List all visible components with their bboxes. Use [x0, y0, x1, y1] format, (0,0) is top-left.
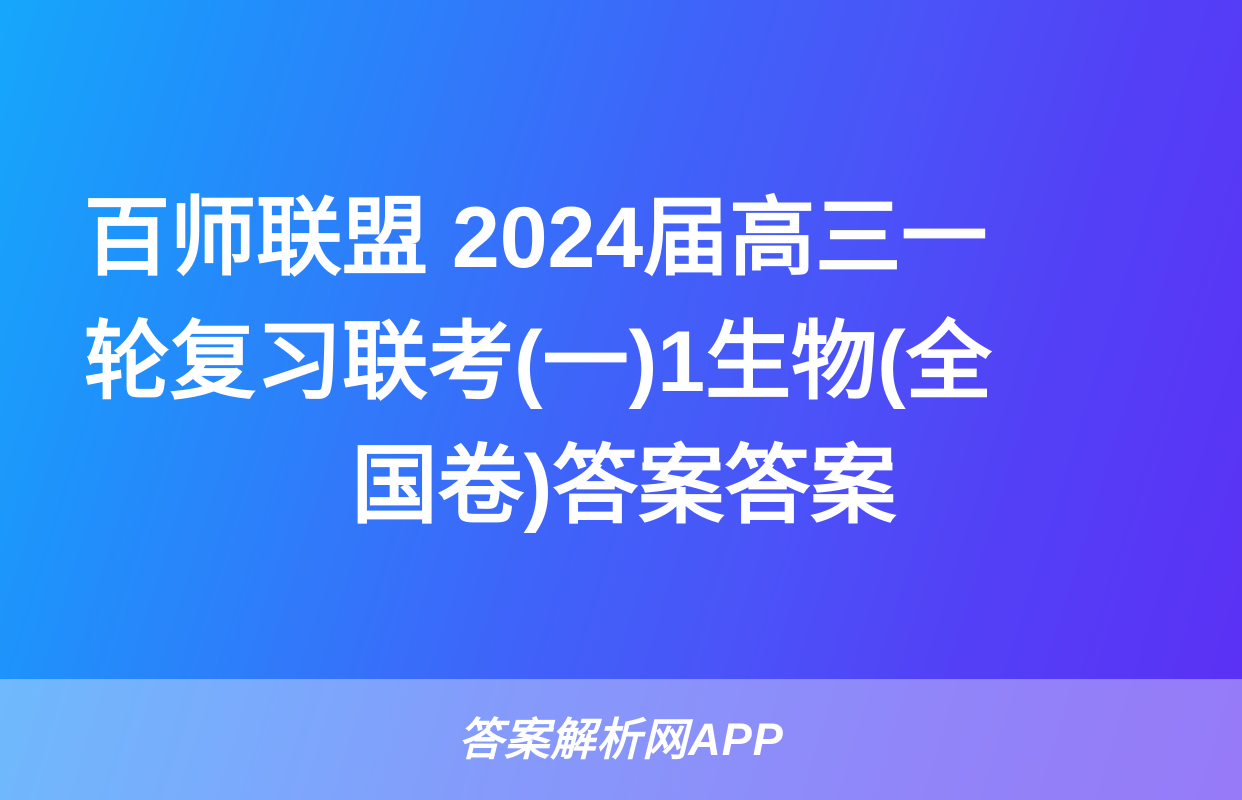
footer-watermark-band: 答案解析网APP: [0, 679, 1242, 800]
title-line-2: 轮复习联考(一)1生物(全: [84, 300, 1164, 424]
title-line-3: 国卷)答案答案: [84, 424, 1164, 548]
title-line-1: 百师联盟 2024届高三一: [84, 176, 1164, 300]
watermark-text: 答案解析网APP: [458, 717, 784, 762]
page-title: 百师联盟 2024届高三一 轮复习联考(一)1生物(全 国卷)答案答案: [84, 176, 1164, 548]
title-card: 百师联盟 2024届高三一 轮复习联考(一)1生物(全 国卷)答案答案 答案解析…: [0, 0, 1242, 800]
